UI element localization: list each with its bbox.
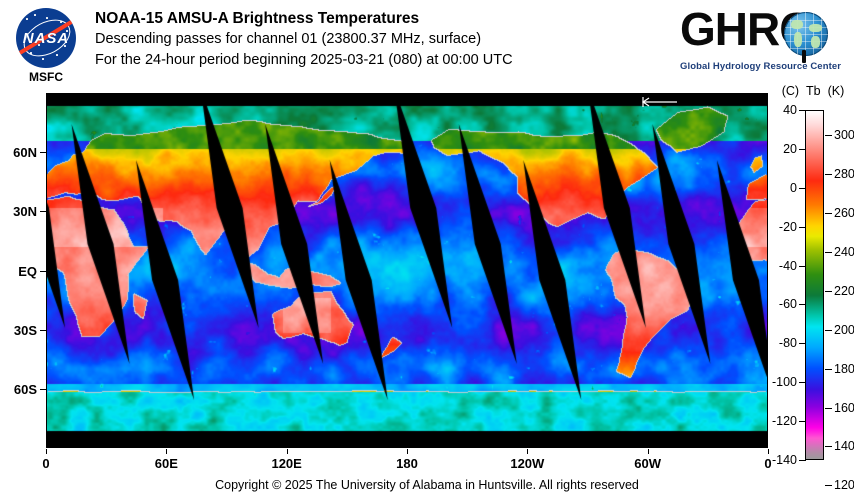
longitude-tick xyxy=(407,449,408,454)
nasa-logo: NASA MSFC xyxy=(12,8,80,88)
colorbar-kelvin-label: 140 xyxy=(834,440,854,452)
latitude-tick xyxy=(40,211,46,212)
copyright-notice: Copyright © 2025 The University of Alaba… xyxy=(0,478,854,492)
colorbar-kelvin-label: 300 xyxy=(834,129,854,141)
latitude-axis: 60N30NEQ30S60S xyxy=(0,93,46,448)
colorbar-celsius-tick xyxy=(799,343,806,344)
colorbar-kelvin-tick xyxy=(825,291,832,292)
colorbar-kelvin-label: 180 xyxy=(834,363,854,375)
nasa-wordmark: NASA xyxy=(12,30,80,47)
colorbar-celsius-axis: 40200-20-40-60-80-100-120-140 xyxy=(765,110,806,460)
colorbar-celsius-label: -140 xyxy=(763,454,797,466)
colorbar-celsius-tick xyxy=(799,110,806,111)
colorbar-celsius-tick xyxy=(799,266,806,267)
brightness-temperature-map[interactable] xyxy=(46,93,768,448)
longitude-label: 180 xyxy=(396,456,418,471)
latitude-tick xyxy=(40,152,46,153)
longitude-tick xyxy=(527,449,528,454)
colorbar-kelvin-label: 160 xyxy=(834,402,854,414)
colorbar-variable-label: Tb xyxy=(806,84,821,98)
colorbar-celsius-tick xyxy=(799,304,806,305)
latitude-tick xyxy=(40,389,46,390)
ghrc-logo: GHRC Global Hydrology Resource Center xyxy=(680,6,840,80)
longitude-tick xyxy=(648,449,649,454)
latitude-label: 60S xyxy=(0,383,37,396)
latitude-label: 30S xyxy=(0,324,37,337)
colorbar-celsius-label: -40 xyxy=(763,260,797,272)
colorbar-celsius-label: 20 xyxy=(763,143,797,155)
colorbar-celsius-label: -80 xyxy=(763,337,797,349)
longitude-label: 120E xyxy=(271,456,301,471)
colorbar-celsius-label: 40 xyxy=(763,104,797,116)
colorbar-kelvin-label: 240 xyxy=(834,246,854,258)
longitude-tick xyxy=(166,449,167,454)
globe-icon xyxy=(784,12,828,56)
latitude-label: 30N xyxy=(0,205,37,218)
colorbar-celsius-tick xyxy=(799,188,806,189)
colorbar-kelvin-tick xyxy=(825,135,832,136)
longitude-label: 60W xyxy=(634,456,661,471)
latitude-tick xyxy=(40,330,46,331)
colorbar-kelvin-label: 220 xyxy=(834,285,854,297)
colorbar-kelvin-tick xyxy=(825,174,832,175)
colorbar-kelvin-axis: 300280260240220200180160140120 xyxy=(825,110,854,460)
page-title: NOAA-15 AMSU-A Brightness Temperatures xyxy=(95,9,665,29)
swath-width-marker-icon xyxy=(639,96,679,108)
colorbar-header: (C) Tb (K) xyxy=(772,84,854,98)
longitude-tick xyxy=(46,449,47,454)
colorbar-celsius-tick xyxy=(799,421,806,422)
latitude-label: EQ xyxy=(0,265,37,278)
longitude-label: 120W xyxy=(510,456,544,471)
latitude-tick xyxy=(40,271,46,272)
colorbar[interactable] xyxy=(805,110,824,460)
longitude-label: 60E xyxy=(155,456,178,471)
colorbar-unit-celsius: (C) xyxy=(782,84,799,98)
colorbar-gradient xyxy=(806,111,823,459)
colorbar-unit-kelvin: (K) xyxy=(828,84,845,98)
colorbar-kelvin-tick xyxy=(825,213,832,214)
colorbar-celsius-tick xyxy=(799,382,806,383)
colorbar-celsius-tick xyxy=(799,227,806,228)
longitude-tick xyxy=(287,449,288,454)
nasa-center-label: MSFC xyxy=(12,70,80,84)
colorbar-kelvin-tick xyxy=(825,330,832,331)
colorbar-kelvin-label: 200 xyxy=(834,324,854,336)
page-subtitle-period: For the 24-hour period beginning 2025-03… xyxy=(95,50,665,71)
page-subtitle-channel: Descending passes for channel 01 (23800.… xyxy=(95,29,665,50)
colorbar-celsius-label: -20 xyxy=(763,221,797,233)
colorbar-kelvin-label: 280 xyxy=(834,168,854,180)
colorbar-celsius-label: -120 xyxy=(763,415,797,427)
map-raster xyxy=(47,94,767,447)
colorbar-celsius-label: -100 xyxy=(763,376,797,388)
colorbar-kelvin-tick xyxy=(825,446,832,447)
colorbar-kelvin-label: 260 xyxy=(834,207,854,219)
latitude-label: 60N xyxy=(0,146,37,159)
colorbar-kelvin-tick xyxy=(825,252,832,253)
colorbar-celsius-tick xyxy=(799,149,806,150)
colorbar-celsius-label: 0 xyxy=(763,182,797,194)
header-text-block: NOAA-15 AMSU-A Brightness Temperatures D… xyxy=(95,9,665,71)
colorbar-celsius-label: -60 xyxy=(763,298,797,310)
colorbar-celsius-tick xyxy=(799,460,806,461)
colorbar-kelvin-tick xyxy=(825,369,832,370)
ghrc-tagline: Global Hydrology Resource Center xyxy=(680,61,838,72)
longitude-axis: 060E120E180120W60W0 xyxy=(46,449,770,473)
colorbar-kelvin-tick xyxy=(825,408,832,409)
longitude-label: 0 xyxy=(42,456,49,471)
